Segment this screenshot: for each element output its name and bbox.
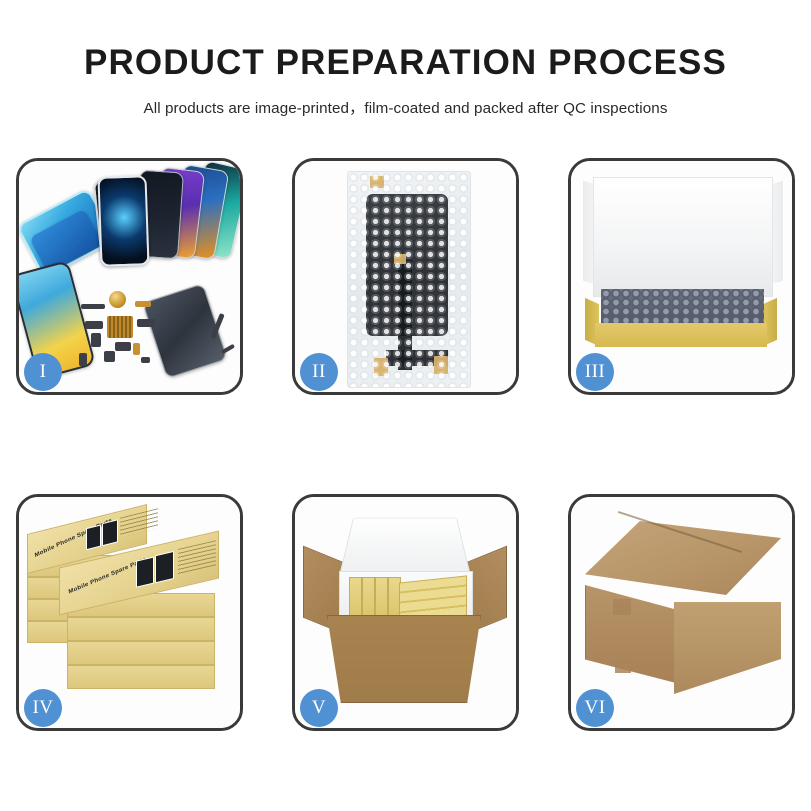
- step-badge-3: III: [576, 353, 614, 391]
- page-title: PRODUCT PREPARATION PROCESS: [0, 0, 811, 83]
- process-step-card-6: VI: [568, 494, 795, 731]
- box-label-text-2: Mobile Phone Spare Parts: [68, 557, 147, 596]
- step-badge-6: VI: [576, 689, 614, 727]
- process-steps-grid: I II: [16, 158, 795, 731]
- page-subtitle: All products are image-printed，film-coat…: [0, 83, 811, 118]
- process-step-card-1: I: [16, 158, 243, 395]
- process-step-card-5: V: [292, 494, 519, 731]
- process-step-card-3: III: [568, 158, 795, 395]
- process-step-card-4: Mobile Phone Spare Parts Mobile Phone Sp…: [16, 494, 243, 731]
- process-step-card-2: II: [292, 158, 519, 395]
- step-badge-4: IV: [24, 689, 62, 727]
- step-badge-5: V: [300, 689, 338, 727]
- step-badge-1: I: [24, 353, 62, 391]
- page-header: PRODUCT PREPARATION PROCESS All products…: [0, 0, 811, 118]
- step-badge-2: II: [300, 353, 338, 391]
